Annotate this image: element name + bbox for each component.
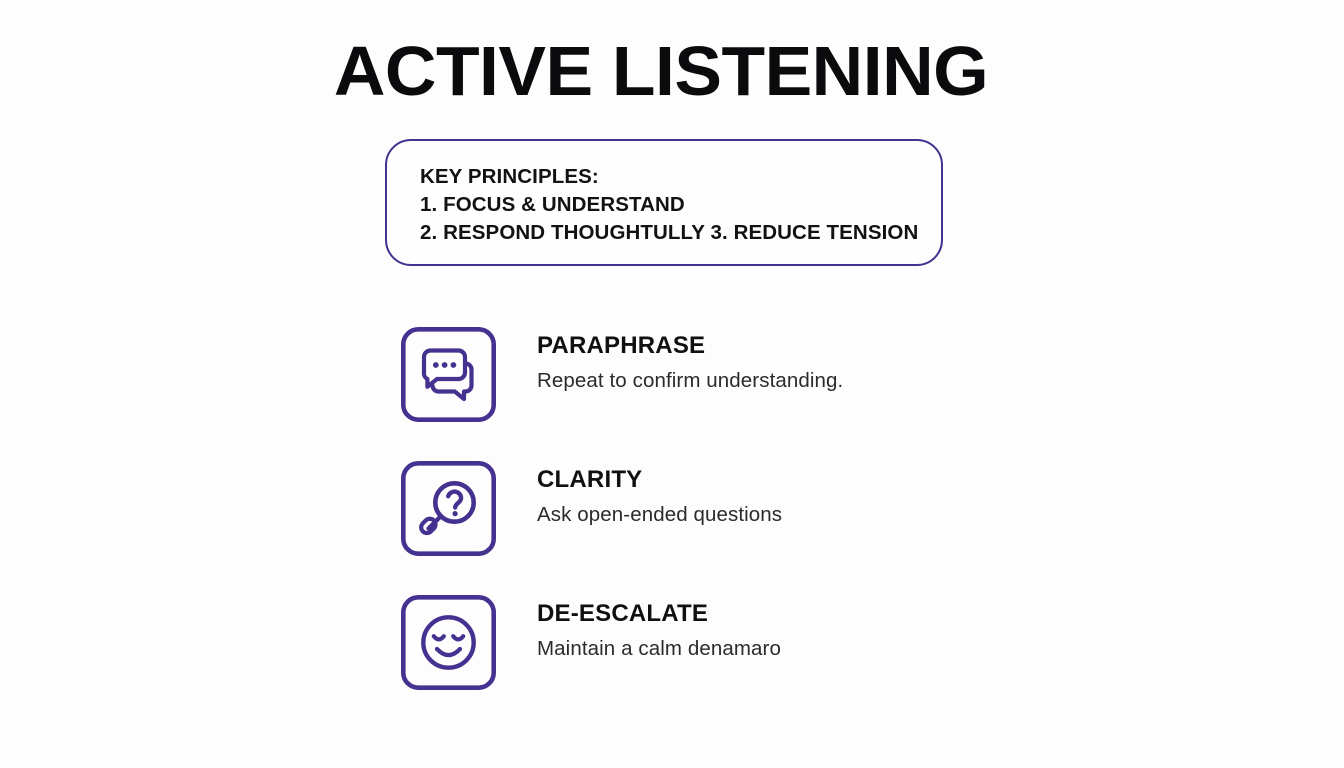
feature-heading: DE-ESCALATE bbox=[537, 599, 1097, 629]
key-principles-line-2: 1. FOCUS & UNDERSTAND bbox=[420, 191, 927, 219]
key-principles-text-block: KEY PRINCIPLES: 1. FOCUS & UNDERSTAND 2.… bbox=[420, 163, 927, 247]
speech-bubbles-icon bbox=[401, 327, 496, 422]
key-principles-panel: KEY PRINCIPLES: 1. FOCUS & UNDERSTAND 2.… bbox=[385, 139, 943, 266]
calm-face-icon bbox=[401, 595, 496, 690]
feature-description: Ask open-ended questions bbox=[537, 501, 1097, 528]
feature-text-de-escalate: DE-ESCALATE Maintain a calm denamaro bbox=[537, 599, 1097, 662]
page-title: ACTIVE LISTENING bbox=[0, 32, 1335, 110]
feature-heading: CLARITY bbox=[537, 465, 1097, 495]
key-principles-line-3: 2. RESPOND THOUGHTULLY 3. REDUCE TENSION bbox=[420, 219, 927, 247]
feature-description: Repeat to confirm understanding. bbox=[537, 367, 1097, 394]
feature-heading: PARAPHRASE bbox=[537, 331, 1097, 361]
magnifier-question-icon bbox=[401, 461, 496, 556]
feature-description: Maintain a calm denamaro bbox=[537, 635, 1097, 662]
infographic-slide: ACTIVE LISTENING KEY PRINCIPLES: 1. FOCU… bbox=[0, 0, 1344, 768]
feature-text-paraphrase: PARAPHRASE Repeat to confirm understandi… bbox=[537, 331, 1097, 394]
key-principles-line-1: KEY PRINCIPLES: bbox=[420, 163, 927, 191]
feature-text-clarity: CLARITY Ask open-ended questions bbox=[537, 465, 1097, 528]
